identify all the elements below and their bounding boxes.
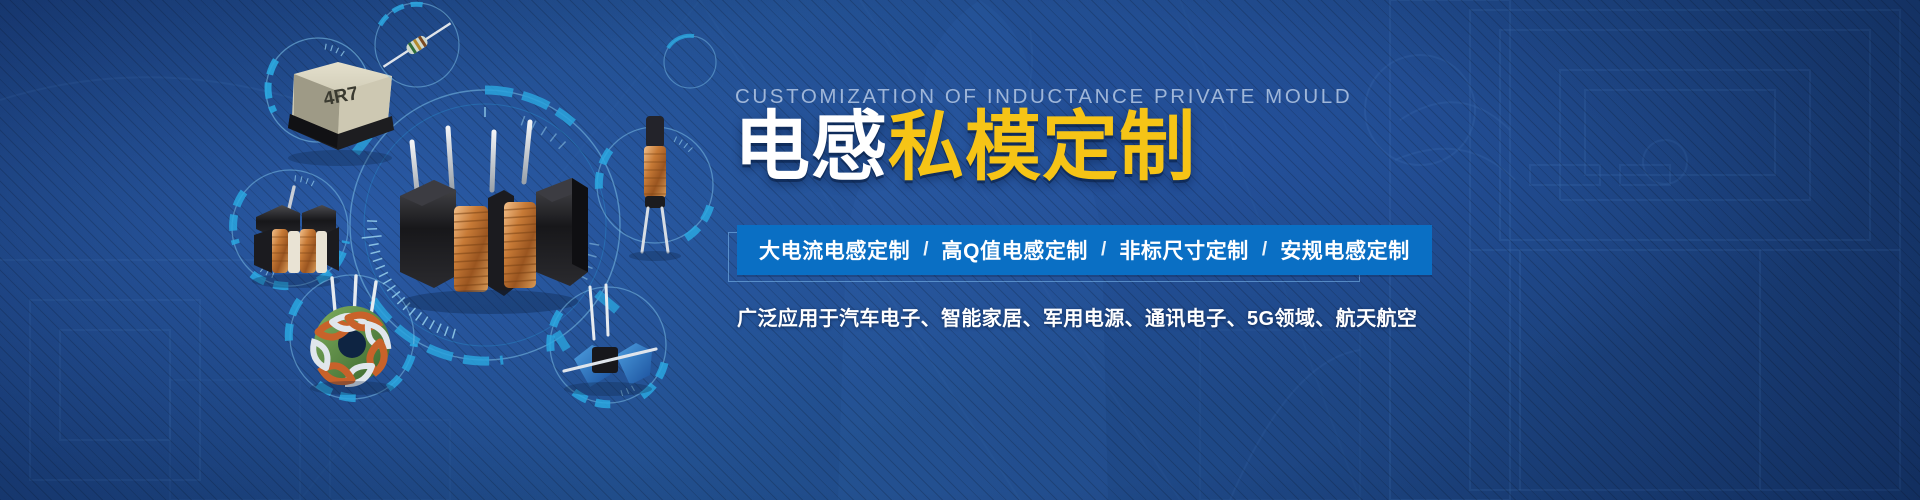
page-title: 电感私模定制 bbox=[734, 110, 1196, 186]
feature-separator-2: / bbox=[1088, 239, 1119, 261]
feature-separator-1: / bbox=[910, 239, 941, 261]
hud-ring-small-decor bbox=[664, 36, 716, 88]
title-white-part: 电感 bbox=[734, 105, 888, 190]
product-common-mode-choke bbox=[400, 122, 588, 314]
product-showcase: 4R7 bbox=[0, 0, 720, 500]
product-toroidal-inductor bbox=[310, 276, 394, 395]
feature-item-3: 非标尺寸定制 bbox=[1119, 235, 1249, 265]
product-axial-inductor bbox=[380, 18, 454, 72]
title-gold-part: 私模定制 bbox=[888, 105, 1196, 190]
banner-content: CUSTOMIZATION OF INDUCTANCE PRIVATE MOUL… bbox=[735, 0, 1920, 500]
product-smd-power-inductor: 4R7 bbox=[288, 62, 394, 166]
feature-item-1: 大电流电感定制 bbox=[759, 235, 910, 265]
feature-bar: 大电流电感定制 / 高Q值电感定制 / 非标尺寸定制 / 安规电感定制 bbox=[737, 225, 1432, 275]
feature-item-2: 高Q值电感定制 bbox=[941, 235, 1088, 265]
promo-banner: 4R7 bbox=[0, 0, 1920, 500]
application-description: 广泛应用于汽车电子、智能家居、军用电源、通讯电子、5G领域、航天航空 bbox=[737, 302, 1417, 331]
feature-item-4: 安规电感定制 bbox=[1280, 235, 1410, 265]
product-bobbin-inductor bbox=[629, 116, 681, 261]
feature-separator-3: / bbox=[1249, 239, 1280, 261]
